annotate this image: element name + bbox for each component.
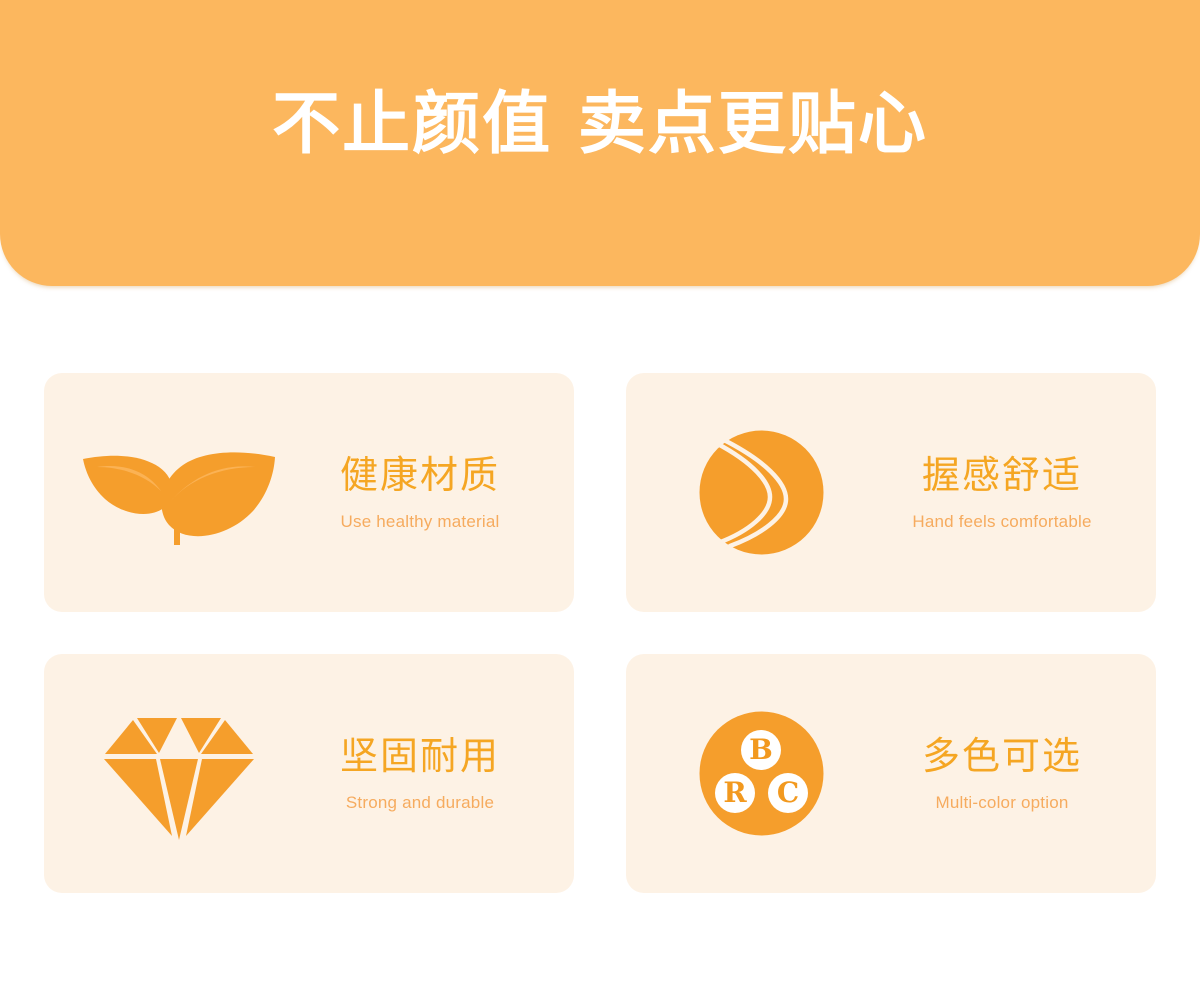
- feature-card-subtitle: Hand feels comfortable: [912, 512, 1091, 532]
- swatch-letter-c: C: [776, 776, 798, 809]
- leaf-sprout-icon: [74, 418, 284, 568]
- feature-card-subtitle: Strong and durable: [346, 793, 494, 813]
- feature-card-comfortable-grip[interactable]: 握感舒适 Hand feels comfortable: [626, 373, 1156, 612]
- feature-card-strong-durable[interactable]: 坚固耐用 Strong and durable: [44, 654, 574, 893]
- feature-card-title: 多色可选: [922, 734, 1082, 780]
- feature-card-title: 坚固耐用: [340, 734, 500, 780]
- feature-card-subtitle: Use healthy material: [341, 512, 500, 532]
- swatch-letter-b: B: [749, 733, 773, 766]
- page-title: 不止颜值 卖点更贴心: [272, 91, 928, 159]
- swatch-letter-r: R: [723, 776, 747, 809]
- header-banner: 不止颜值 卖点更贴心: [0, 0, 1200, 286]
- feature-card-grid: 健康材质 Use healthy material 握感舒适 Hand feel…: [44, 373, 1156, 893]
- header-banner-inner: 不止颜值 卖点更贴心: [0, 0, 1200, 250]
- feature-card-title: 握感舒适: [922, 453, 1082, 499]
- feature-card-text: 健康材质 Use healthy material: [284, 453, 564, 533]
- feature-card-multi-color[interactable]: B R C 多色可选 Multi-color option: [626, 654, 1156, 893]
- grip-circle-icon: [656, 418, 866, 568]
- feature-card-healthy-material[interactable]: 健康材质 Use healthy material: [44, 373, 574, 612]
- color-options-brc-icon: B R C: [656, 699, 866, 849]
- feature-card-text: 多色可选 Multi-color option: [866, 734, 1146, 814]
- diamond-gem-icon: [74, 699, 284, 849]
- feature-card-text: 坚固耐用 Strong and durable: [284, 734, 564, 814]
- feature-card-title: 健康材质: [340, 453, 500, 499]
- feature-card-subtitle: Multi-color option: [935, 793, 1068, 813]
- feature-card-text: 握感舒适 Hand feels comfortable: [866, 453, 1146, 533]
